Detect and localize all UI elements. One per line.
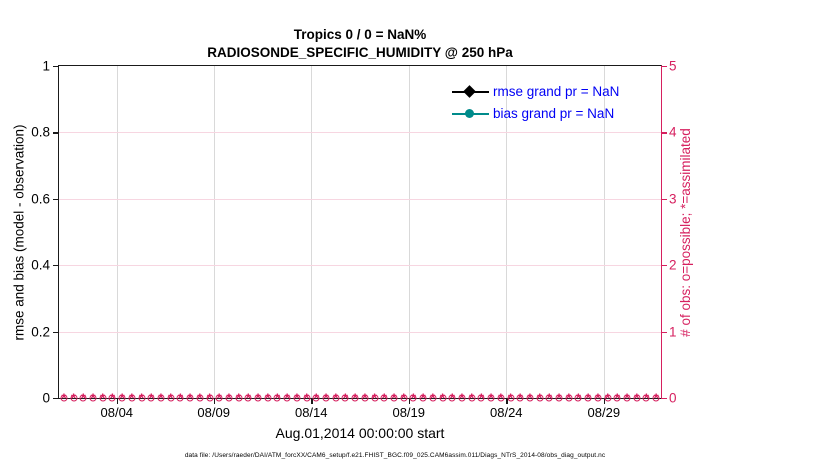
obs-assimilated-marker: *: [605, 392, 610, 405]
obs-assimilated-marker: *: [217, 392, 222, 405]
obs-assimilated-marker: *: [256, 392, 261, 405]
obs-assimilated-marker: *: [391, 392, 396, 405]
obs-assimilated-marker: *: [149, 392, 154, 405]
obs-assimilated-marker: *: [644, 392, 649, 405]
obs-assimilated-marker: *: [527, 392, 532, 405]
obs-assimilated-marker: *: [197, 392, 202, 405]
obs-assimilated-marker: *: [71, 392, 76, 405]
obs-assimilated-marker: *: [634, 392, 639, 405]
obs-assimilated-marker: *: [459, 392, 464, 405]
y-axis-left-tick: [53, 332, 59, 333]
obs-assimilated-marker: *: [129, 392, 134, 405]
obs-assimilated-marker: *: [343, 392, 348, 405]
gridline-horizontal: [59, 132, 661, 133]
obs-assimilated-marker: *: [498, 392, 503, 405]
obs-assimilated-marker: *: [236, 392, 241, 405]
obs-assimilated-marker: *: [518, 392, 523, 405]
obs-assimilated-marker: *: [246, 392, 251, 405]
obs-assimilated-marker: *: [81, 392, 86, 405]
y-axis-right-title-text: # of obs: o=possible; *=assimilated: [678, 128, 693, 337]
y-axis-right-tick-label: 5: [669, 59, 677, 74]
obs-assimilated-marker: *: [430, 392, 435, 405]
legend-item-rmse[interactable]: rmse grand pr = NaN: [452, 82, 619, 101]
y-axis-left-tick-label: 0.6: [31, 191, 50, 206]
y-axis-right-tick-label: 1: [669, 324, 677, 339]
obs-assimilated-marker: *: [226, 392, 231, 405]
obs-assimilated-marker: *: [654, 392, 659, 405]
obs-assimilated-marker: *: [595, 392, 600, 405]
x-axis-title: Aug.01,2014 00:00:00 start: [58, 425, 662, 441]
legend-label-bias: bias grand pr = NaN: [493, 106, 614, 121]
obs-assimilated-marker: *: [382, 392, 387, 405]
obs-assimilated-marker: *: [440, 392, 445, 405]
obs-assimilated-marker: *: [537, 392, 542, 405]
y-axis-right-tick-label: 4: [669, 125, 677, 140]
obs-assimilated-marker: *: [207, 392, 212, 405]
y-axis-left-tick-label: 0: [42, 391, 50, 406]
obs-assimilated-marker: *: [421, 392, 426, 405]
y-axis-left-title: rmse and bias (model - observation): [10, 65, 28, 399]
obs-assimilated-marker: *: [323, 392, 328, 405]
obs-assimilated-marker: *: [615, 392, 620, 405]
y-axis-left-tick: [53, 398, 59, 399]
y-axis-right-tick: [661, 332, 667, 333]
obs-assimilated-marker: *: [372, 392, 377, 405]
obs-assimilated-marker: *: [557, 392, 562, 405]
gridline-horizontal: [59, 199, 661, 200]
x-axis-tick-label: 08/24: [490, 405, 523, 420]
chart-legend: rmse grand pr = NaN bias grand pr = NaN: [452, 82, 619, 123]
chart-subtitle: RADIOSONDE_SPECIFIC_HUMIDITY @ 250 hPa: [0, 44, 720, 62]
chart-title-block: Tropics 0 / 0 = NaN% RADIOSONDE_SPECIFIC…: [0, 26, 720, 62]
obs-assimilated-marker: *: [362, 392, 367, 405]
y-axis-left-tick: [53, 199, 59, 200]
x-axis-tick-label: 08/19: [392, 405, 425, 420]
legend-sample-rmse: [452, 85, 489, 99]
obs-assimilated-marker: *: [100, 392, 105, 405]
gridline-horizontal: [59, 332, 661, 333]
gridline-horizontal: [59, 265, 661, 266]
obs-assimilated-marker: *: [353, 392, 358, 405]
obs-assimilated-marker: *: [333, 392, 338, 405]
legend-item-bias[interactable]: bias grand pr = NaN: [452, 104, 619, 123]
obs-assimilated-marker: *: [178, 392, 183, 405]
obs-assimilated-marker: *: [469, 392, 474, 405]
x-axis-tick-label: 08/14: [295, 405, 328, 420]
obs-assimilated-marker: *: [275, 392, 280, 405]
gridline-vertical: [214, 66, 215, 398]
x-axis-tick-label: 08/09: [197, 405, 230, 420]
obs-assimilated-marker: *: [90, 392, 95, 405]
obs-assimilated-marker: *: [624, 392, 629, 405]
obs-assimilated-marker: *: [401, 392, 406, 405]
y-axis-left-tick: [53, 132, 59, 133]
gridline-vertical: [117, 66, 118, 398]
obs-assimilated-marker: *: [411, 392, 416, 405]
obs-assimilated-marker: *: [294, 392, 299, 405]
y-axis-right-tick: [661, 398, 667, 399]
y-axis-right-tick-label: 3: [669, 191, 677, 206]
y-axis-right-tick-label: 2: [669, 258, 677, 273]
obs-assimilated-marker: *: [139, 392, 144, 405]
y-axis-right-title: # of obs: o=possible; *=assimilated: [676, 65, 694, 399]
obs-assimilated-marker: *: [479, 392, 484, 405]
x-axis-tick-label: 08/29: [588, 405, 621, 420]
obs-assimilated-marker: *: [566, 392, 571, 405]
circle-marker-icon: [465, 109, 474, 118]
legend-sample-bias: [452, 107, 489, 121]
y-axis-right-tick: [661, 132, 667, 133]
y-axis-left-tick-label: 0.4: [31, 258, 50, 273]
y-axis-left-tick-label: 1: [42, 59, 50, 74]
obs-assimilated-marker: *: [576, 392, 581, 405]
obs-assimilated-marker: *: [188, 392, 193, 405]
y-axis-left-tick-label: 0.2: [31, 324, 50, 339]
x-axis-tick: [214, 398, 215, 404]
y-axis-right-tick: [661, 66, 667, 67]
gridline-vertical: [409, 66, 410, 398]
y-axis-right-tick: [661, 265, 667, 266]
gridline-vertical: [311, 66, 312, 398]
data-file-footer: data file: /Users/raeder/DAI/ATM_forcXX/…: [0, 452, 790, 459]
y-axis-right-tick-label: 0: [669, 391, 677, 406]
obs-assimilated-marker: *: [61, 392, 66, 405]
obs-assimilated-marker: *: [120, 392, 125, 405]
obs-assimilated-marker: *: [285, 392, 290, 405]
y-axis-left-tick: [53, 66, 59, 67]
obs-assimilated-marker: *: [265, 392, 270, 405]
obs-assimilated-marker: *: [547, 392, 552, 405]
obs-assimilated-marker: *: [168, 392, 173, 405]
y-axis-left-tick: [53, 265, 59, 266]
y-axis-left-tick-label: 0.8: [31, 125, 50, 140]
y-axis-left-title-text: rmse and bias (model - observation): [12, 124, 27, 340]
obs-assimilated-marker: *: [489, 392, 494, 405]
obs-assimilated-marker: *: [450, 392, 455, 405]
legend-label-rmse: rmse grand pr = NaN: [493, 84, 619, 99]
obs-assimilated-marker: *: [508, 392, 513, 405]
obs-assimilated-marker: *: [304, 392, 309, 405]
obs-assimilated-marker: *: [314, 392, 319, 405]
obs-assimilated-marker: *: [158, 392, 163, 405]
y-axis-right-tick: [661, 199, 667, 200]
x-axis-tick-label: 08/04: [101, 405, 134, 420]
figure-container: Tropics 0 / 0 = NaN% RADIOSONDE_SPECIFIC…: [0, 0, 830, 470]
obs-assimilated-marker: *: [110, 392, 115, 405]
chart-title: Tropics 0 / 0 = NaN%: [0, 26, 720, 44]
diamond-marker-icon: [463, 85, 476, 98]
obs-assimilated-marker: *: [586, 392, 591, 405]
